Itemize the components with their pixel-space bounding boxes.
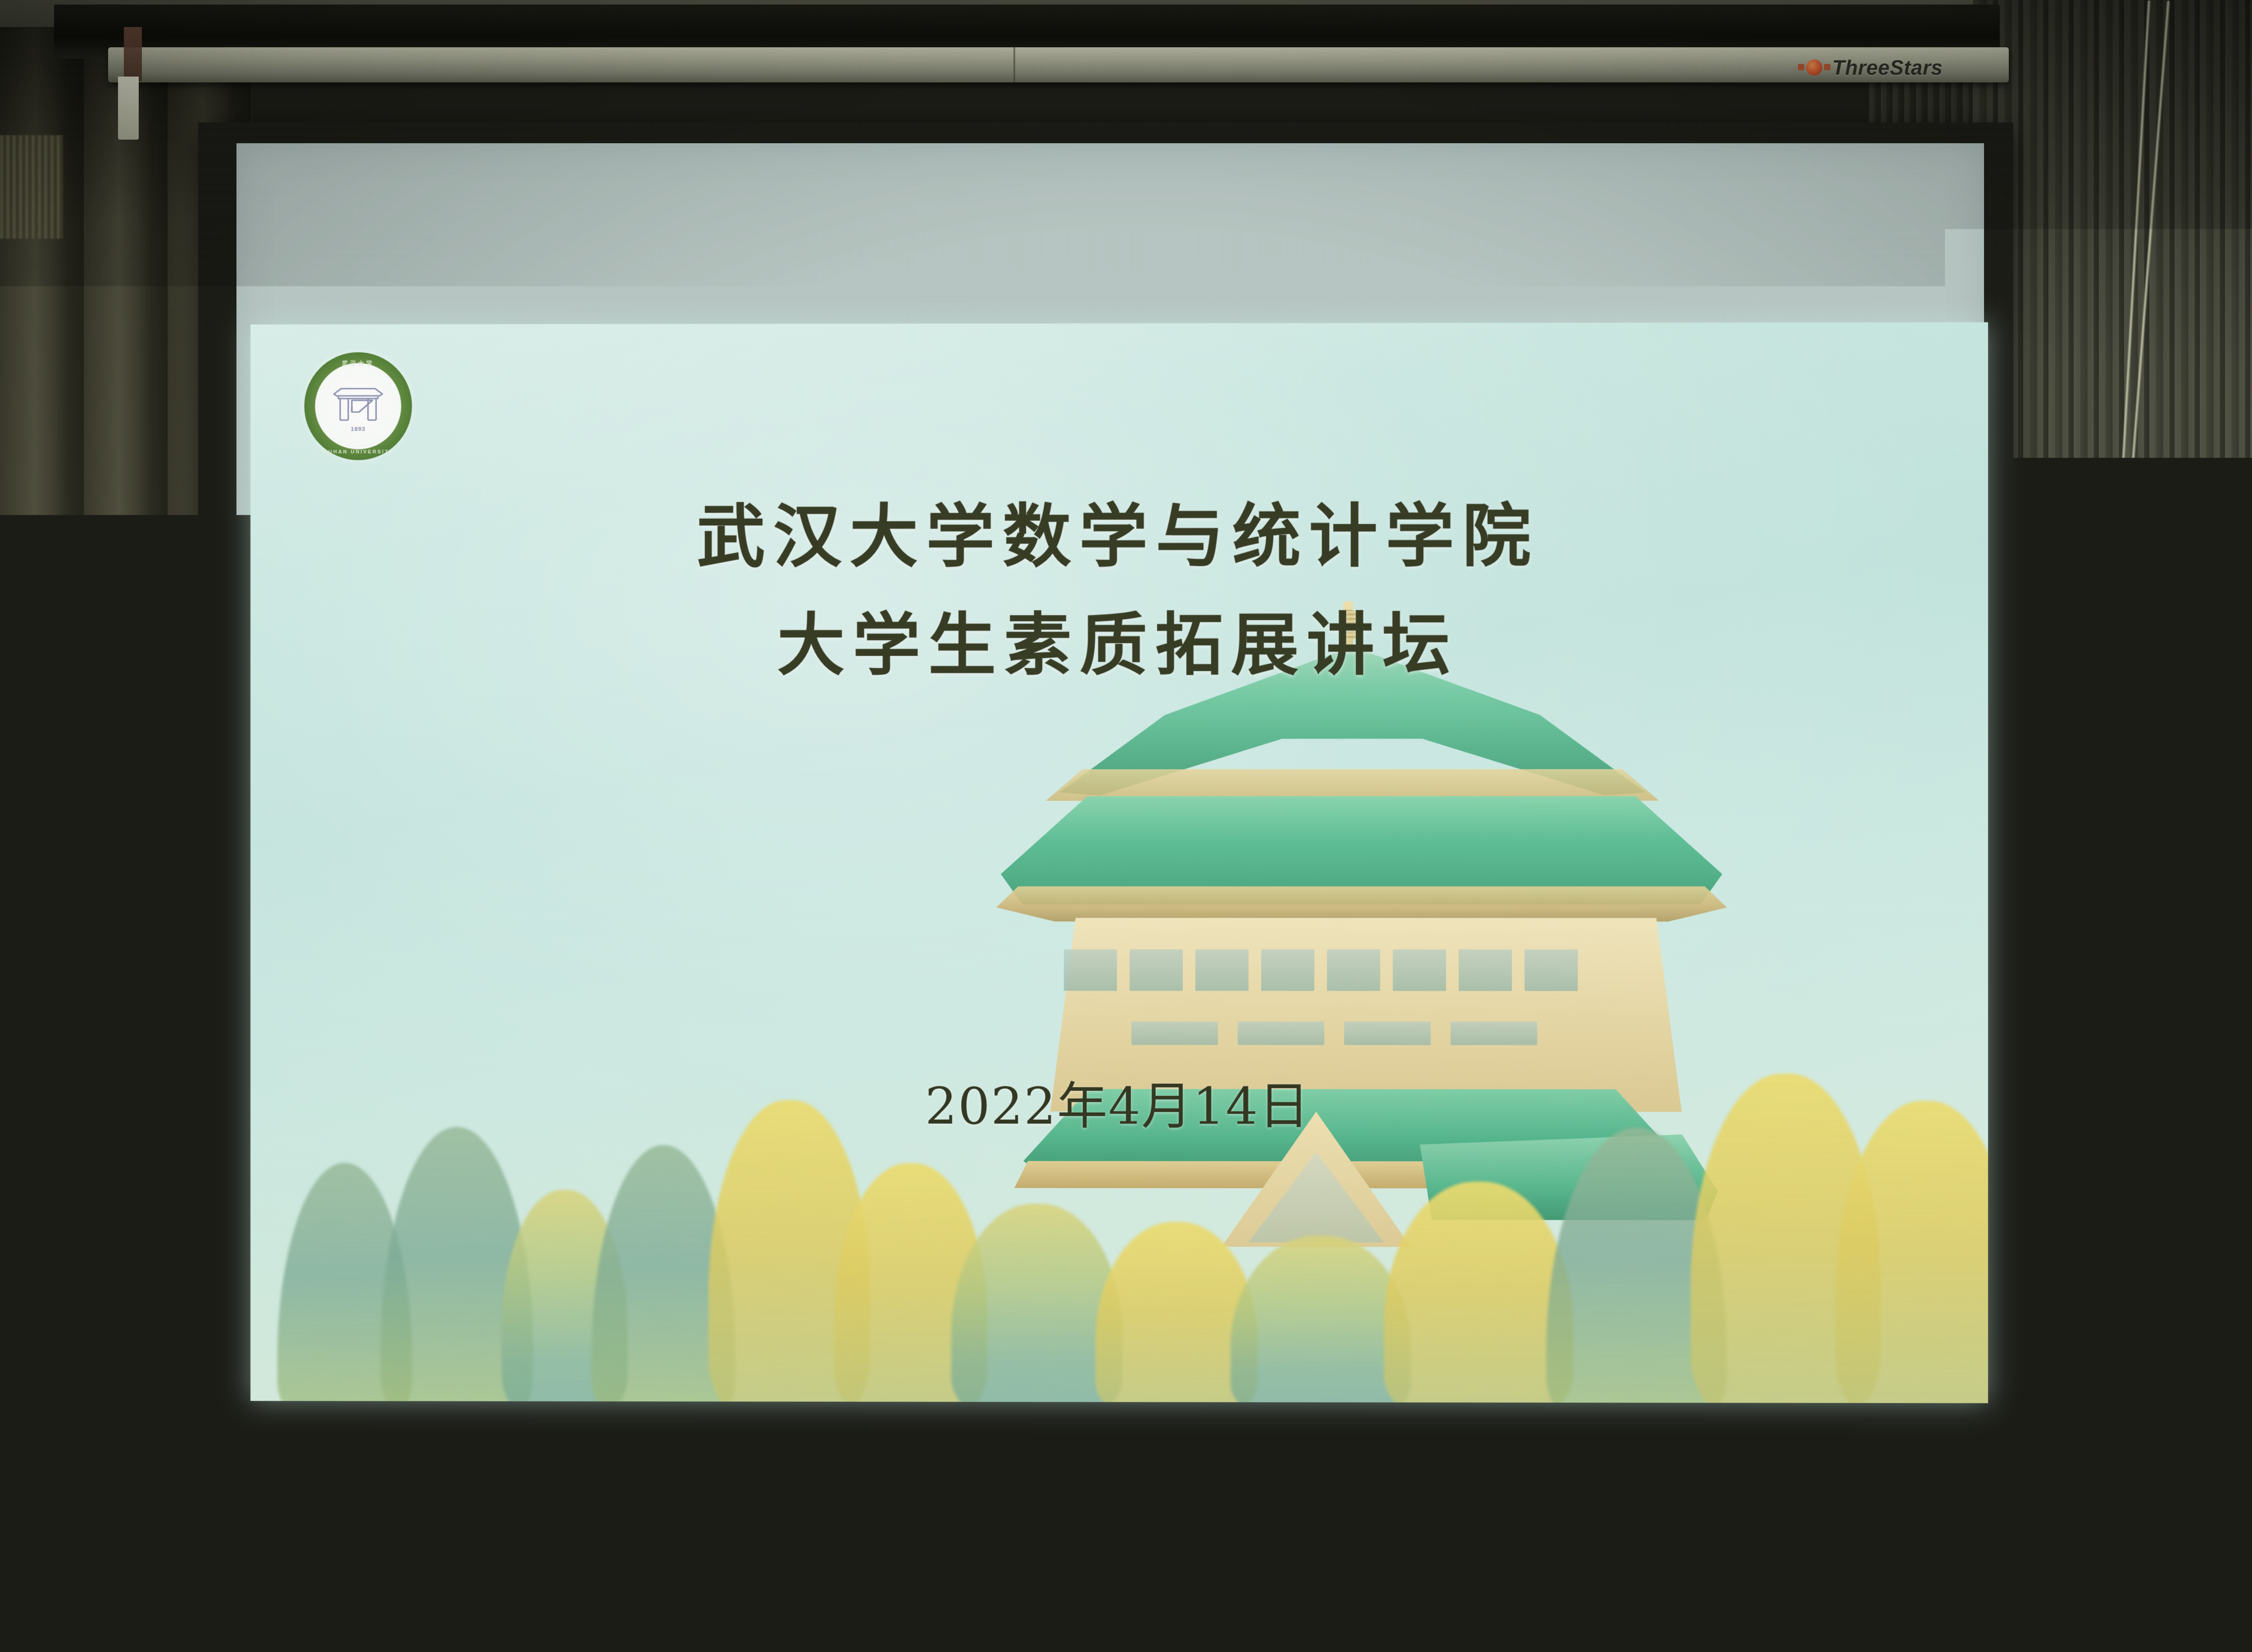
roof-tier-mid-eave bbox=[996, 886, 1727, 921]
podium-front-panel bbox=[1308, 1639, 1894, 1652]
wall-speaker bbox=[2196, 517, 2252, 693]
window bbox=[1327, 949, 1380, 991]
screen-brand-label: ThreeStars bbox=[1832, 55, 1943, 80]
logo-founding-year: 1893 bbox=[351, 425, 366, 432]
speaker-brand-label bbox=[2249, 646, 2252, 661]
wall-slat-panel-right bbox=[1973, 0, 2252, 1652]
presentation-slide[interactable]: 武汉大学 1893 WUHAN UNIVERSITY 武汉大学数 bbox=[250, 322, 1988, 1403]
logo-inner-disc: 1893 bbox=[318, 366, 398, 447]
window bbox=[1525, 949, 1578, 991]
logo-ring-text-bottom: WUHAN UNIVERSITY bbox=[304, 449, 412, 455]
gate-archway-icon bbox=[327, 380, 388, 423]
foreground-shadow bbox=[0, 1572, 1306, 1652]
roller-mount-bracket bbox=[124, 27, 142, 81]
podium-side-panel bbox=[2000, 1604, 2162, 1652]
slide-photo bbox=[250, 322, 1988, 1403]
window bbox=[1459, 949, 1512, 991]
window bbox=[1393, 949, 1446, 991]
wuhan-university-logo: 武汉大学 1893 WUHAN UNIVERSITY bbox=[304, 352, 412, 460]
window bbox=[1130, 949, 1183, 991]
roller-pull-tab[interactable] bbox=[118, 77, 139, 140]
window-row-upper bbox=[1064, 949, 1578, 991]
threestars-logo-icon bbox=[1806, 59, 1822, 76]
wall-speaker-bracket bbox=[2216, 689, 2252, 701]
curtain-fringe bbox=[0, 135, 63, 239]
classroom-scene: ThreeStars bbox=[0, 0, 2252, 1652]
window bbox=[1451, 1021, 1537, 1045]
window bbox=[1195, 949, 1249, 991]
slide-date-text: 2022年4月14日 bbox=[250, 1065, 1988, 1139]
window bbox=[1238, 1021, 1324, 1045]
roller-seam-left bbox=[1013, 47, 1015, 82]
screen-roller-bar[interactable] bbox=[108, 47, 2009, 82]
window bbox=[1064, 949, 1117, 991]
screen-brand-plate: ThreeStars bbox=[1806, 56, 1943, 79]
window bbox=[1131, 1021, 1218, 1045]
window-row-lower bbox=[1131, 1021, 1537, 1045]
window bbox=[1261, 949, 1314, 991]
podium-object bbox=[1828, 1576, 1895, 1598]
roof-tier-top-eave bbox=[1046, 769, 1659, 801]
window bbox=[1344, 1021, 1430, 1045]
tree bbox=[1384, 1181, 1573, 1403]
tree bbox=[1835, 1101, 1988, 1403]
